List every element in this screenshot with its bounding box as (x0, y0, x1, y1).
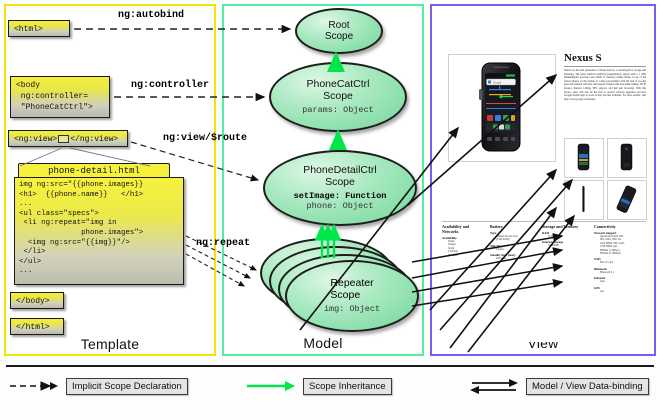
legend-item-scope-inheritance: Scope Inheritance (245, 374, 392, 398)
arrow-label-ng-autobind: ng:autobind (118, 10, 184, 21)
spec-value: 428 hours (496, 257, 536, 260)
double-arrow-icon (468, 376, 520, 396)
scope-phonecatctrl-name-line2: Scope (323, 90, 353, 102)
scope-root-name-line2: Scope (325, 31, 353, 42)
spec-header-storage: Storage and Memory (542, 224, 590, 229)
legend-label-scope-inheritance: Scope Inheritance (303, 378, 392, 395)
phone-description: Nexus S is the next generation of Nexus … (564, 69, 646, 131)
spec-value: true (600, 290, 646, 293)
scope-phonedetailctrl-prop-phone: phone: Object (306, 201, 373, 211)
scope-phonecatctrl-name-line1: PhoneCatCtrl (306, 78, 369, 90)
phone-thumbnail-angle[interactable] (607, 180, 647, 220)
phone-title: Nexus S (564, 52, 648, 64)
spec-value: 802.11 b/g/n (600, 261, 646, 264)
spec-column-connectivity: Connectivity Network Support Quad-band G… (594, 224, 646, 293)
panel-model-label: Model (224, 335, 422, 351)
phone-side-thumb-icon (565, 181, 601, 217)
legend-item-model-view-data-binding: Model / View Data-binding (468, 374, 649, 398)
tag-html-open-text: <html> (14, 25, 43, 34)
scope-phonedetailctrl: PhoneDetailCtrl Scope setImage: Function… (263, 150, 417, 226)
scope-root-name: Root Scope (325, 20, 353, 43)
phone-angle-thumb-icon (608, 181, 644, 217)
spec-value: 6 hours (496, 248, 536, 251)
phone-title-divider (564, 66, 646, 67)
scope-phonedetailctrl-name: PhoneDetailCtrl Scope (303, 165, 377, 188)
rendered-view-page: Google (436, 10, 650, 342)
arrow-label-ng-controller: ng:controller (131, 80, 209, 91)
phone-hero-icon: Google (449, 55, 553, 159)
legend-label-model-view-data-binding: Model / View Data-binding (526, 378, 649, 395)
spec-column-battery: Battery Type Lithium Ion (Li-Ion) (1500 … (490, 224, 536, 261)
code-callout-source: img ng:src="{{phone.images}} <h1> {{phon… (14, 177, 184, 285)
legend-label-implicit-scope-declaration: Implicit Scope Declaration (66, 378, 188, 395)
spec-value: HSUPA (5.76Mbps) (600, 252, 646, 255)
spec-value: false (600, 280, 646, 283)
spec-value: 16384MB (548, 244, 590, 247)
scope-phonedetailctrl-name-line2: Scope (325, 176, 355, 188)
dashed-arrow-icon (8, 376, 60, 396)
scope-repeater-stack: Repeater Scope img: Object (260, 238, 415, 330)
phone-thumbnail-front[interactable] (564, 138, 604, 178)
scope-root: Root Scope (295, 8, 383, 54)
spec-table-divider (442, 221, 646, 222)
scope-repeater-name-line2: Scope (330, 289, 360, 301)
panel-template-label: Template (6, 336, 214, 352)
phone-front-thumb-icon (565, 139, 601, 175)
spec-column-storage: Storage and Memory RAM 512MB Internal St… (542, 224, 590, 248)
code-callout: phone-detail.html img ng:src="{{phone.im… (14, 163, 184, 285)
tag-ngview-close-text: </ng:view> (70, 135, 118, 144)
arrow-label-ng-view-route: ng:view/$route (163, 133, 247, 144)
scope-root-name-line1: Root (328, 20, 349, 31)
legend-divider (6, 365, 654, 367)
legend-item-implicit-scope-declaration: Implicit Scope Declaration (8, 374, 188, 398)
svg-text:Google: Google (493, 81, 502, 85)
phone-thumbnail-side[interactable] (564, 180, 604, 220)
diagram-canvas: Template Model View <html> <body ng:cont… (0, 0, 660, 420)
spec-header-connectivity: Connectivity (594, 224, 646, 229)
scope-phonedetailctrl-name-line1: PhoneDetailCtrl (303, 164, 377, 176)
tag-body-open-text: <body ng:controller= "PhoneCatCtrl"> (16, 81, 93, 112)
scope-phonecatctrl-props: params: Object (302, 105, 373, 115)
scope-phonecatctrl-name: PhoneCatCtrl Scope (306, 79, 369, 102)
scope-phonedetailctrl-prop-setimage: setImage: Function (294, 191, 387, 201)
phone-back-thumb-icon (608, 139, 644, 175)
tag-html-close-text: </html> (16, 323, 50, 332)
spec-value: (1500 mAH) (496, 238, 536, 241)
spec-value: Vodafone (448, 254, 484, 257)
tag-ngview-open-text: <ng:view> (14, 135, 57, 144)
phone-hero-image-frame: Google (448, 54, 556, 162)
arrow-label-ng-repeat: ng:repeat (196, 238, 250, 249)
spec-value: Bluetooth 2.1 (600, 271, 646, 274)
tag-body-close: </body> (10, 292, 64, 309)
scope-repeater-name-line1: Repeater (330, 277, 373, 289)
ngview-slot-icon (58, 135, 69, 143)
scope-phonecatctrl: PhoneCatCtrl Scope params: Object (269, 62, 407, 132)
tag-body-open: <body ng:controller= "PhoneCatCtrl"> (10, 76, 110, 118)
scope-phonedetailctrl-props: setImage: Function phone: Object (294, 191, 387, 211)
scope-repeater-prop-img: img: Object (324, 304, 380, 314)
tag-body-close-text: </body> (16, 297, 50, 306)
spec-header-availability: Availability and Networks (442, 224, 484, 234)
spec-column-availability: Availability and Networks Availability S… (442, 224, 484, 257)
scope-repeater-props: img: Object (324, 304, 380, 314)
scope-phonecatctrl-prop-params: params: Object (302, 105, 373, 115)
phone-spec-table: Availability and Networks Availability S… (442, 224, 646, 324)
legend: Implicit Scope Declaration Scope Inherit… (0, 374, 660, 408)
phone-thumbnail-back[interactable] (607, 138, 647, 178)
scope-repeater-name: Repeater Scope (330, 278, 373, 301)
tag-html-open: <html> (8, 20, 70, 37)
green-arrow-icon (245, 376, 297, 396)
tag-html-close: </html> (10, 318, 64, 335)
spec-value: 512MB (548, 235, 590, 238)
tag-ngview: <ng:view></ng:view> (8, 130, 128, 147)
spec-header-battery: Battery (490, 224, 536, 229)
scope-repeater: Repeater Scope img: Object (285, 260, 419, 332)
